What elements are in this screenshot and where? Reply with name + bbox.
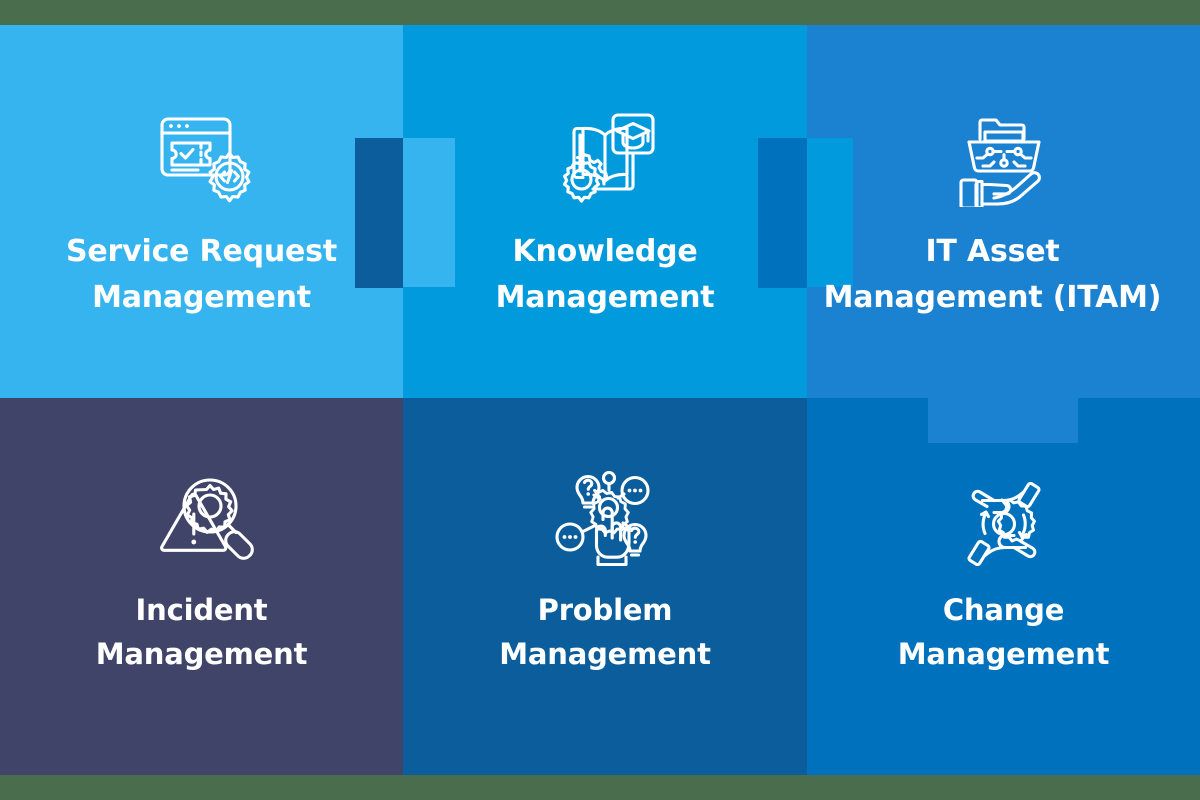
tile-knowledge-management[interactable]: Knowledge Management	[403, 25, 807, 398]
tile-problem-management[interactable]: Problem Management	[403, 398, 807, 775]
tile-tab-it-asset-management	[928, 398, 1078, 443]
hand-gear-question-bulbs-icon	[553, 470, 657, 566]
tile-label-incident-management: Incident Management	[92, 588, 311, 676]
tile-it-asset-management[interactable]: IT Asset Management (ITAM)	[807, 25, 1200, 398]
tile-content-change-management: Change Management	[807, 398, 1200, 775]
tile-content-problem-management: Problem Management	[403, 398, 807, 775]
infographic-canvas: Service Request Management	[0, 0, 1200, 800]
tile-tab-change-management	[758, 138, 807, 288]
open-book-graduation-cap-gear-icon	[553, 111, 657, 207]
warning-triangle-magnifier-gear-icon	[150, 470, 254, 566]
hand-holding-asset-folder-icon	[952, 111, 1056, 207]
process-tile-grid: Service Request Management	[0, 25, 1200, 775]
tile-service-request-management[interactable]: Service Request Management	[0, 25, 403, 398]
tile-label-change-management: Change Management	[894, 588, 1113, 676]
tile-content-it-asset-management: IT Asset Management (ITAM)	[807, 25, 1200, 398]
tile-content-knowledge-management: Knowledge Management	[403, 25, 807, 398]
tile-incident-management[interactable]: Incident Management	[0, 398, 403, 775]
tile-content-service-request-management: Service Request Management	[0, 25, 403, 398]
tile-tab-knowledge-management	[807, 138, 853, 287]
tile-content-incident-management: Incident Management	[0, 398, 403, 775]
browser-ticket-gear-code-icon	[150, 111, 254, 207]
two-hands-gear-cycle-arrows-icon	[952, 470, 1056, 566]
tile-change-management[interactable]: Change Management	[807, 398, 1200, 775]
tile-label-service-request-management: Service Request Management	[62, 229, 341, 320]
tile-tab-service-request-management	[403, 138, 455, 287]
tile-label-problem-management: Problem Management	[495, 588, 714, 676]
tile-label-knowledge-management: Knowledge Management	[492, 229, 719, 320]
tile-tab-problem-management	[355, 138, 403, 288]
